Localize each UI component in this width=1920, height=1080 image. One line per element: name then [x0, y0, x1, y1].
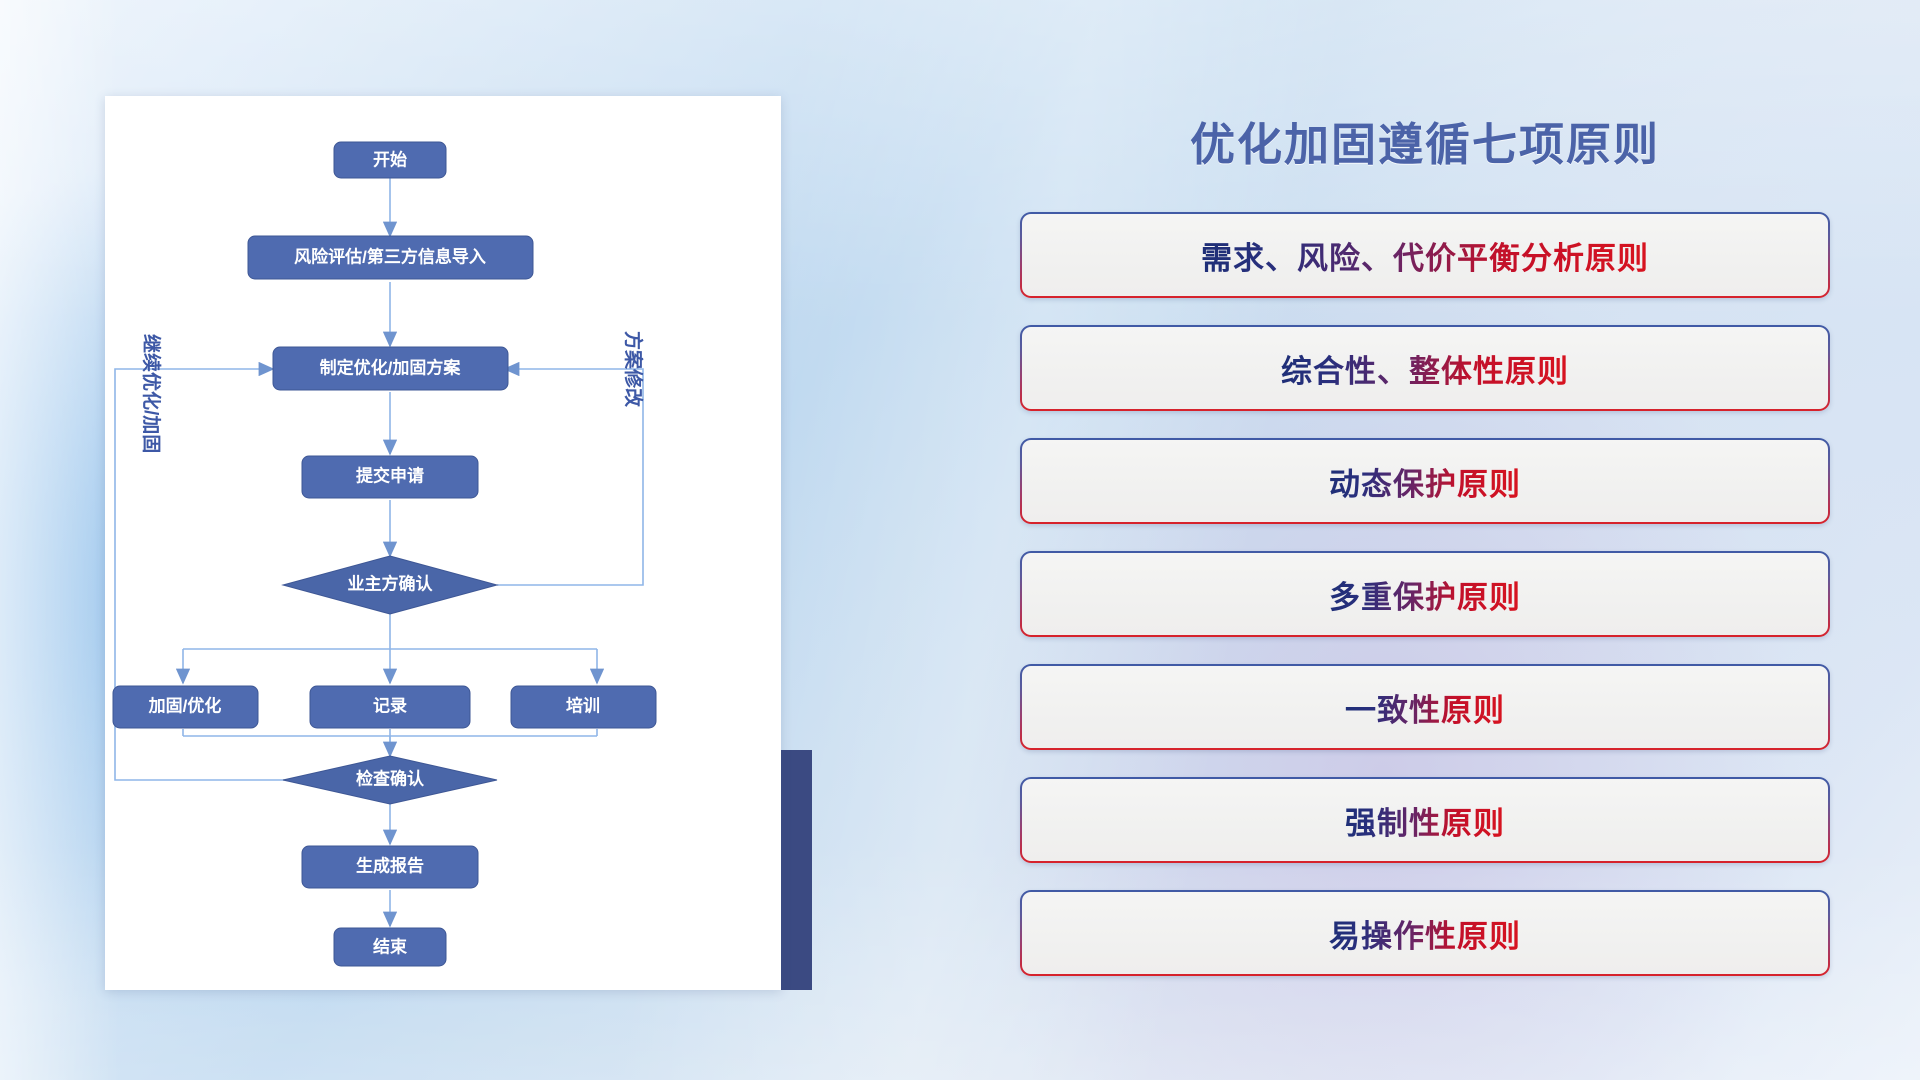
flow-node-start-label: 开始 [373, 149, 407, 169]
flow-node-submit[interactable]: 提交申请 [302, 456, 478, 498]
flow-node-plan-label: 制定优化/加固方案 [320, 357, 462, 377]
principle-card-1-label: 需求、风险、代价平衡分析原则 [1201, 233, 1649, 278]
flow-node-reinforce-label: 加固/优化 [148, 695, 222, 715]
flow-node-record[interactable]: 记录 [310, 686, 470, 728]
principle-card-2-label: 综合性、整体性原则 [1281, 346, 1569, 391]
principle-card-3-inner: 动态保护原则 [1022, 440, 1828, 522]
principle-card-5[interactable]: 一致性原则 [1020, 664, 1830, 750]
principle-card-4-inner: 多重保护原则 [1022, 553, 1828, 635]
flow-node-report[interactable]: 生成报告 [302, 846, 478, 888]
flow-edge-label-plan-revision: 方案修改 [622, 331, 645, 408]
background-left-highlight [0, 0, 120, 1080]
principle-card-3-label: 动态保护原则 [1329, 459, 1521, 504]
principles-pane: 优化加固遵循七项原则 需求、风险、代价平衡分析原则 综合性、整体性原则 动态保护… [1020, 96, 1830, 1016]
principle-card-2-inner: 综合性、整体性原则 [1022, 327, 1828, 409]
flowchart-card: 开始 风险评估/第三方信息导入 制定优化/加固方案 提交申请 业主方确认 加固/… [105, 96, 781, 990]
flow-node-training-label: 培训 [566, 695, 600, 715]
flow-node-report-label: 生成报告 [356, 855, 424, 875]
principle-card-1-inner: 需求、风险、代价平衡分析原则 [1022, 214, 1828, 296]
principle-card-7-inner: 易操作性原则 [1022, 892, 1828, 974]
flow-node-start[interactable]: 开始 [334, 142, 446, 178]
principle-card-5-label: 一致性原则 [1345, 685, 1505, 730]
principle-card-6-inner: 强制性原则 [1022, 779, 1828, 861]
flow-node-owner-confirm[interactable]: 业主方确认 [283, 556, 497, 614]
principle-card-7[interactable]: 易操作性原则 [1020, 890, 1830, 976]
principle-card-1[interactable]: 需求、风险、代价平衡分析原则 [1020, 212, 1830, 298]
principle-card-4[interactable]: 多重保护原则 [1020, 551, 1830, 637]
flow-node-check-confirm[interactable]: 检查确认 [283, 756, 497, 804]
principle-card-2[interactable]: 综合性、整体性原则 [1020, 325, 1830, 411]
flow-node-record-label: 记录 [373, 696, 407, 715]
flow-node-risk-assessment-label: 风险评估/第三方信息导入 [294, 246, 486, 266]
principle-card-7-label: 易操作性原则 [1329, 911, 1521, 956]
page-title: 优化加固遵循七项原则 [1020, 108, 1830, 173]
flow-node-check-confirm-label: 检查确认 [356, 768, 425, 788]
principle-card-4-label: 多重保护原则 [1329, 572, 1521, 617]
flow-node-training[interactable]: 培训 [511, 686, 656, 728]
principle-card-5-inner: 一致性原则 [1022, 666, 1828, 748]
flow-node-risk-assessment[interactable]: 风险评估/第三方信息导入 [248, 236, 533, 279]
principle-card-6-label: 强制性原则 [1345, 798, 1505, 843]
flow-node-owner-confirm-label: 业主方确认 [348, 573, 434, 593]
flow-node-plan[interactable]: 制定优化/加固方案 [273, 347, 508, 390]
principle-card-3[interactable]: 动态保护原则 [1020, 438, 1830, 524]
principle-card-6[interactable]: 强制性原则 [1020, 777, 1830, 863]
flow-node-reinforce[interactable]: 加固/优化 [113, 686, 258, 728]
flow-node-submit-label: 提交申请 [356, 465, 424, 485]
principles-list: 需求、风险、代价平衡分析原则 综合性、整体性原则 动态保护原则 多重保护原则 一… [1020, 212, 1830, 1003]
flow-edge-label-continue-optimize: 继续优化/加固 [140, 334, 163, 453]
flowchart-svg: 开始 风险评估/第三方信息导入 制定优化/加固方案 提交申请 业主方确认 加固/… [105, 96, 781, 990]
flow-node-end[interactable]: 结束 [334, 928, 446, 966]
flow-node-end-label: 结束 [373, 936, 407, 956]
